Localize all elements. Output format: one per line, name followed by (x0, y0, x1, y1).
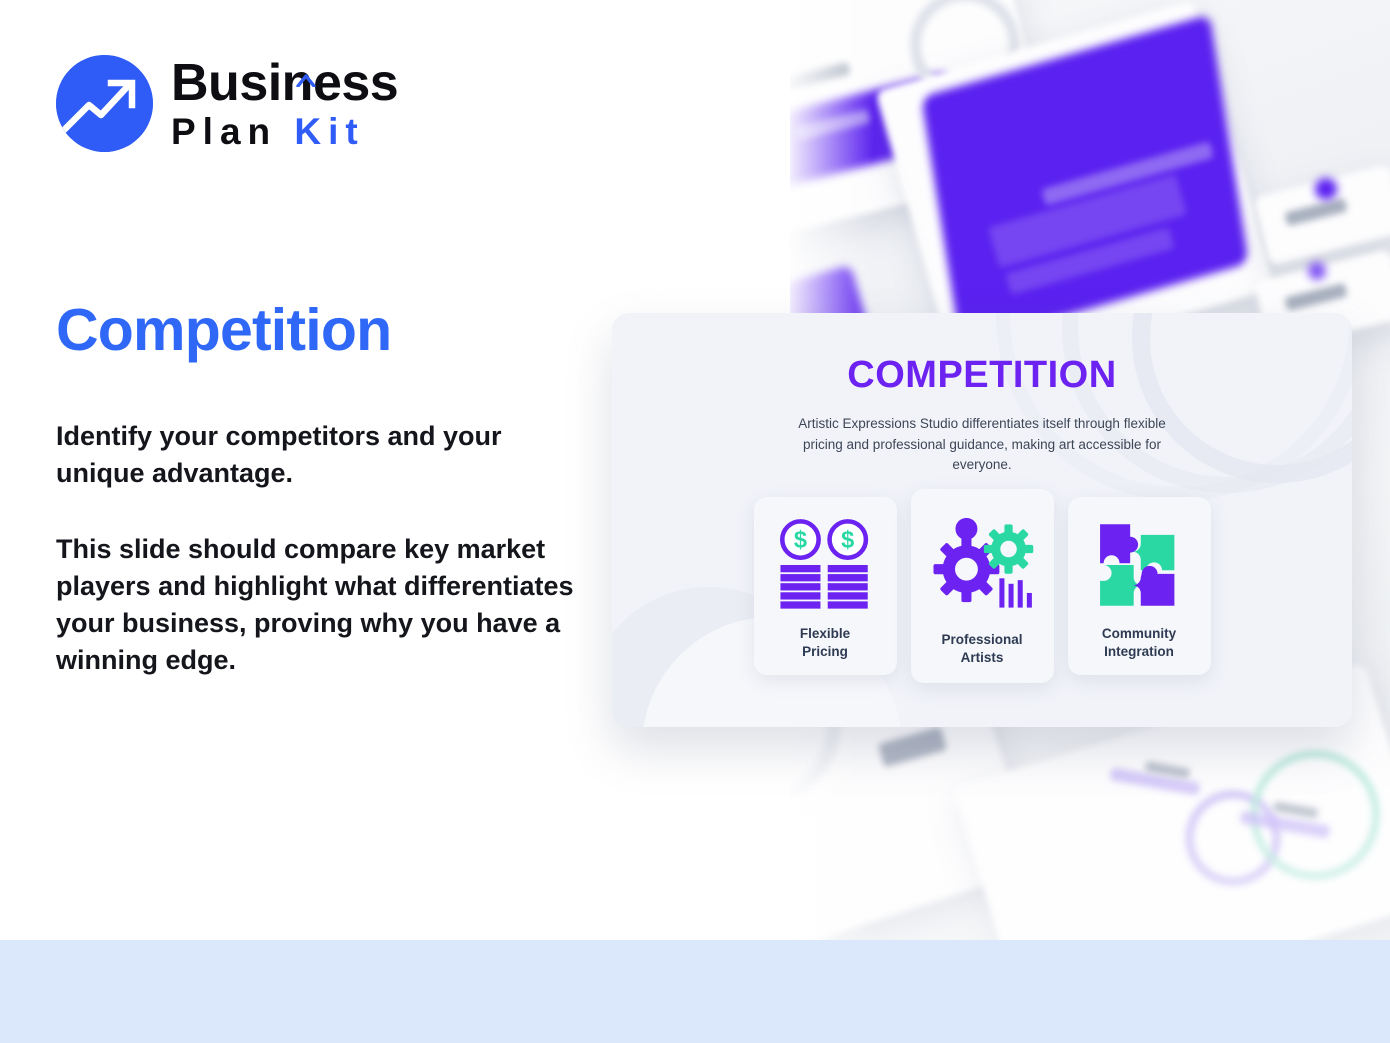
feature-card-professional-artists[interactable]: Professional Artists (911, 489, 1054, 684)
page-title: Competition (56, 296, 391, 364)
page-body-copy: Identify your competitors and your uniqu… (56, 418, 576, 680)
slide-heading: COMPETITION (612, 354, 1352, 397)
logo-plan-word: Plan (171, 111, 277, 152)
feature-card-flexible-pricing[interactable]: $ $ (754, 497, 897, 676)
coin-stacks-icon: $ $ (775, 513, 875, 617)
bottom-accent-band (0, 940, 1390, 1043)
feature-label-line2: Artists (961, 650, 1004, 665)
feature-card-community-integration[interactable]: Community Integration (1068, 497, 1211, 676)
feature-label-line2: Pricing (802, 644, 848, 659)
svg-text:$: $ (794, 527, 807, 553)
brand-logo: Business Plan Kit (56, 55, 398, 152)
svg-text:$: $ (841, 527, 854, 553)
feature-label: Community Integration (1102, 625, 1176, 662)
logo-business-word: Business (171, 54, 398, 112)
body-paragraph: Identify your competitors and your uniqu… (56, 418, 576, 493)
body-paragraph: This slide should compare key market pla… (56, 531, 576, 680)
feature-label-line1: Professional (941, 632, 1022, 647)
feature-label-line1: Flexible (800, 626, 850, 641)
bg-dot (1308, 262, 1326, 280)
feature-label: Professional Artists (941, 631, 1022, 668)
logo-text-business: Business (171, 57, 398, 109)
puzzle-pieces-icon (1093, 513, 1185, 617)
feature-label-line2: Integration (1104, 644, 1174, 659)
feature-label-line1: Community (1102, 626, 1176, 641)
gears-lightbulb-chart-icon (928, 509, 1036, 623)
bg-dot (1315, 178, 1337, 200)
logo-kit-word: Kit (294, 111, 364, 152)
growth-arrow-chart-icon (56, 55, 153, 152)
feature-label: Flexible Pricing (800, 625, 850, 662)
slide-subtitle: Artistic Expressions Studio differentiat… (782, 414, 1182, 476)
logo-text-plan-kit: Plan Kit (171, 113, 398, 150)
logo-circumflex-icon (296, 44, 316, 57)
